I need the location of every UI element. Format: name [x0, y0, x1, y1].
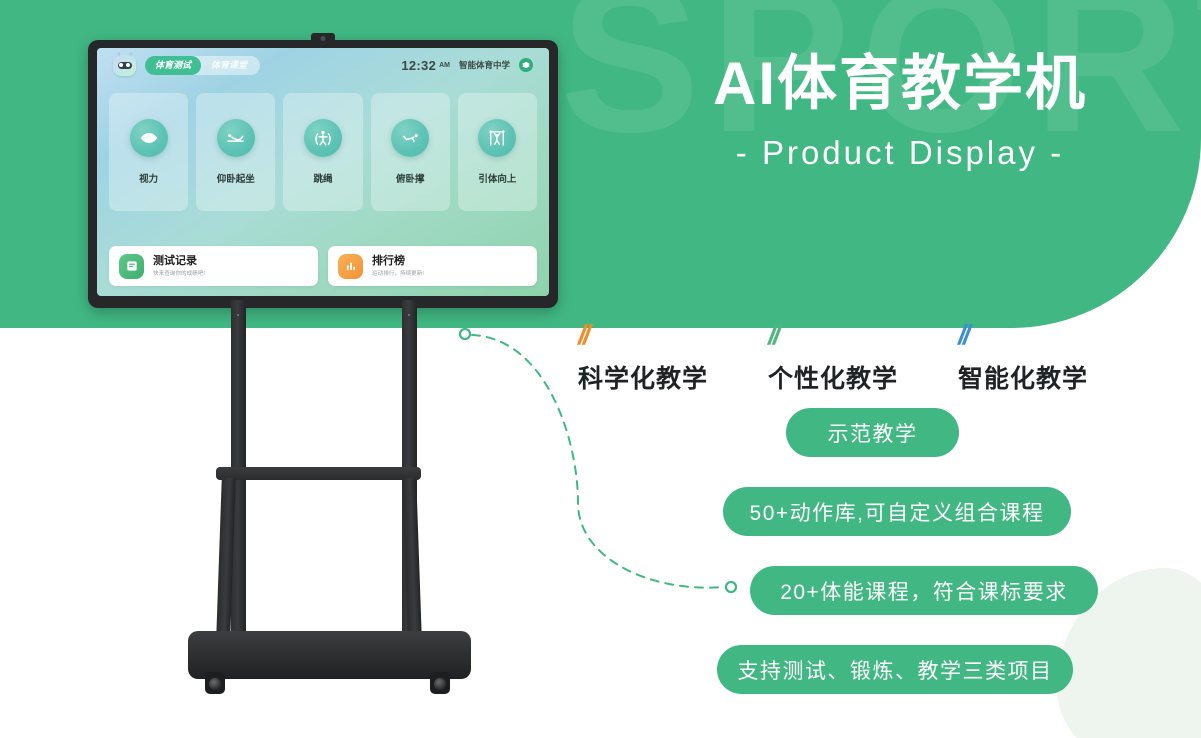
- feature-heading-row: // 科学化教学 // 个性化教学 // 智能化教学: [578, 326, 1148, 395]
- tile-pushup[interactable]: 俯卧撑: [371, 93, 450, 211]
- school-name-label: 智能体育中学: [459, 59, 510, 71]
- feature-intelligent: // 智能化教学: [958, 326, 1148, 395]
- pill-action-library[interactable]: 50+动作库,可自定义组合课程: [723, 487, 1071, 536]
- screen-tab-group: 体育测试 体育课堂: [145, 56, 260, 75]
- jump-rope-icon: [304, 119, 342, 157]
- tile-label: 仰卧起坐: [217, 171, 255, 185]
- card-title: 测试记录: [153, 255, 205, 268]
- pill-three-categories[interactable]: 支持测试、锻炼、教学三类项目: [717, 645, 1073, 694]
- tile-label: 视力: [139, 171, 158, 185]
- card-text-block: 测试记录 快来查询你的成绩吧!: [153, 255, 205, 278]
- quote-mark-icon: //: [578, 326, 588, 344]
- feature-personalized: // 个性化教学: [768, 326, 958, 395]
- chart-bars-icon: [338, 254, 363, 279]
- page-subtitle: - Product Display -: [640, 134, 1160, 172]
- card-subtitle: 运动排行，持续更新!: [372, 269, 424, 277]
- card-title: 排行榜: [372, 255, 424, 268]
- screen-topbar: 体育测试 体育课堂 12:32 AM 智能体育中学: [97, 48, 549, 82]
- screen-tile-grid: 视力 仰卧起坐: [109, 93, 537, 211]
- card-text-block: 排行榜 运动排行，持续更新!: [372, 255, 424, 278]
- tab-sports-class[interactable]: 体育课堂: [201, 56, 257, 75]
- hero-text-block: AI体育教学机 - Product Display -: [640, 48, 1160, 172]
- sit-up-icon: [217, 119, 255, 157]
- camera-module-icon: [311, 33, 335, 42]
- card-subtitle: 快来查询你的成绩吧!: [153, 269, 205, 277]
- page-title: AI体育教学机: [640, 48, 1160, 120]
- record-icon: [119, 254, 144, 279]
- pill-fitness-courses[interactable]: 20+体能课程，符合课标要求: [750, 566, 1098, 615]
- connector-node-start: [460, 329, 470, 339]
- tv-screen: 体育测试 体育课堂 12:32 AM 智能体育中学: [97, 48, 549, 296]
- tile-pullup[interactable]: 引体向上: [458, 93, 537, 211]
- pull-up-icon: [478, 119, 516, 157]
- tile-eyesight[interactable]: 视力: [109, 93, 188, 211]
- feature-title: 智能化教学: [958, 359, 1148, 395]
- tab-sports-test[interactable]: 体育测试: [145, 56, 201, 75]
- screen-shortcut-cards: 测试记录 快来查询你的成绩吧! 排: [109, 246, 537, 286]
- robot-icon[interactable]: [113, 55, 136, 76]
- clock-ampm: AM: [439, 62, 450, 69]
- tile-label: 跳绳: [314, 171, 333, 185]
- stand-caster: [205, 672, 225, 694]
- stand-base: [188, 631, 471, 679]
- gear-icon[interactable]: [519, 58, 533, 72]
- feature-title: 个性化教学: [768, 359, 958, 395]
- card-leaderboard[interactable]: 排行榜 运动排行，持续更新!: [328, 246, 537, 286]
- pill-demo-teaching[interactable]: 示范教学: [786, 408, 959, 457]
- push-up-icon: [391, 119, 429, 157]
- card-test-records[interactable]: 测试记录 快来查询你的成绩吧!: [109, 246, 318, 286]
- screen-status-area: 12:32 AM 智能体育中学: [401, 58, 533, 73]
- tile-label: 引体向上: [478, 171, 516, 185]
- stand-caster: [430, 672, 450, 694]
- poster-root: SPORTS AI体育教学机 - Product Display - 体育测试 …: [0, 0, 1201, 738]
- stand-shelf: [216, 467, 421, 480]
- tv-bezel: 体育测试 体育课堂 12:32 AM 智能体育中学: [88, 40, 558, 308]
- tile-jumprope[interactable]: 跳绳: [283, 93, 362, 211]
- feature-title: 科学化教学: [578, 359, 768, 395]
- robot-eyes-icon: [118, 62, 132, 69]
- tile-label: 俯卧撑: [396, 171, 425, 185]
- clock-time: 12:32: [401, 58, 436, 73]
- feature-pill-list: 示范教学 50+动作库,可自定义组合课程 20+体能课程，符合课标要求 支持测试…: [560, 408, 1160, 694]
- tile-situp[interactable]: 仰卧起坐: [196, 93, 275, 211]
- eye-icon: [130, 119, 168, 157]
- quote-mark-icon: //: [768, 326, 778, 344]
- quote-mark-icon: //: [958, 326, 968, 344]
- feature-scientific: // 科学化教学: [578, 326, 768, 395]
